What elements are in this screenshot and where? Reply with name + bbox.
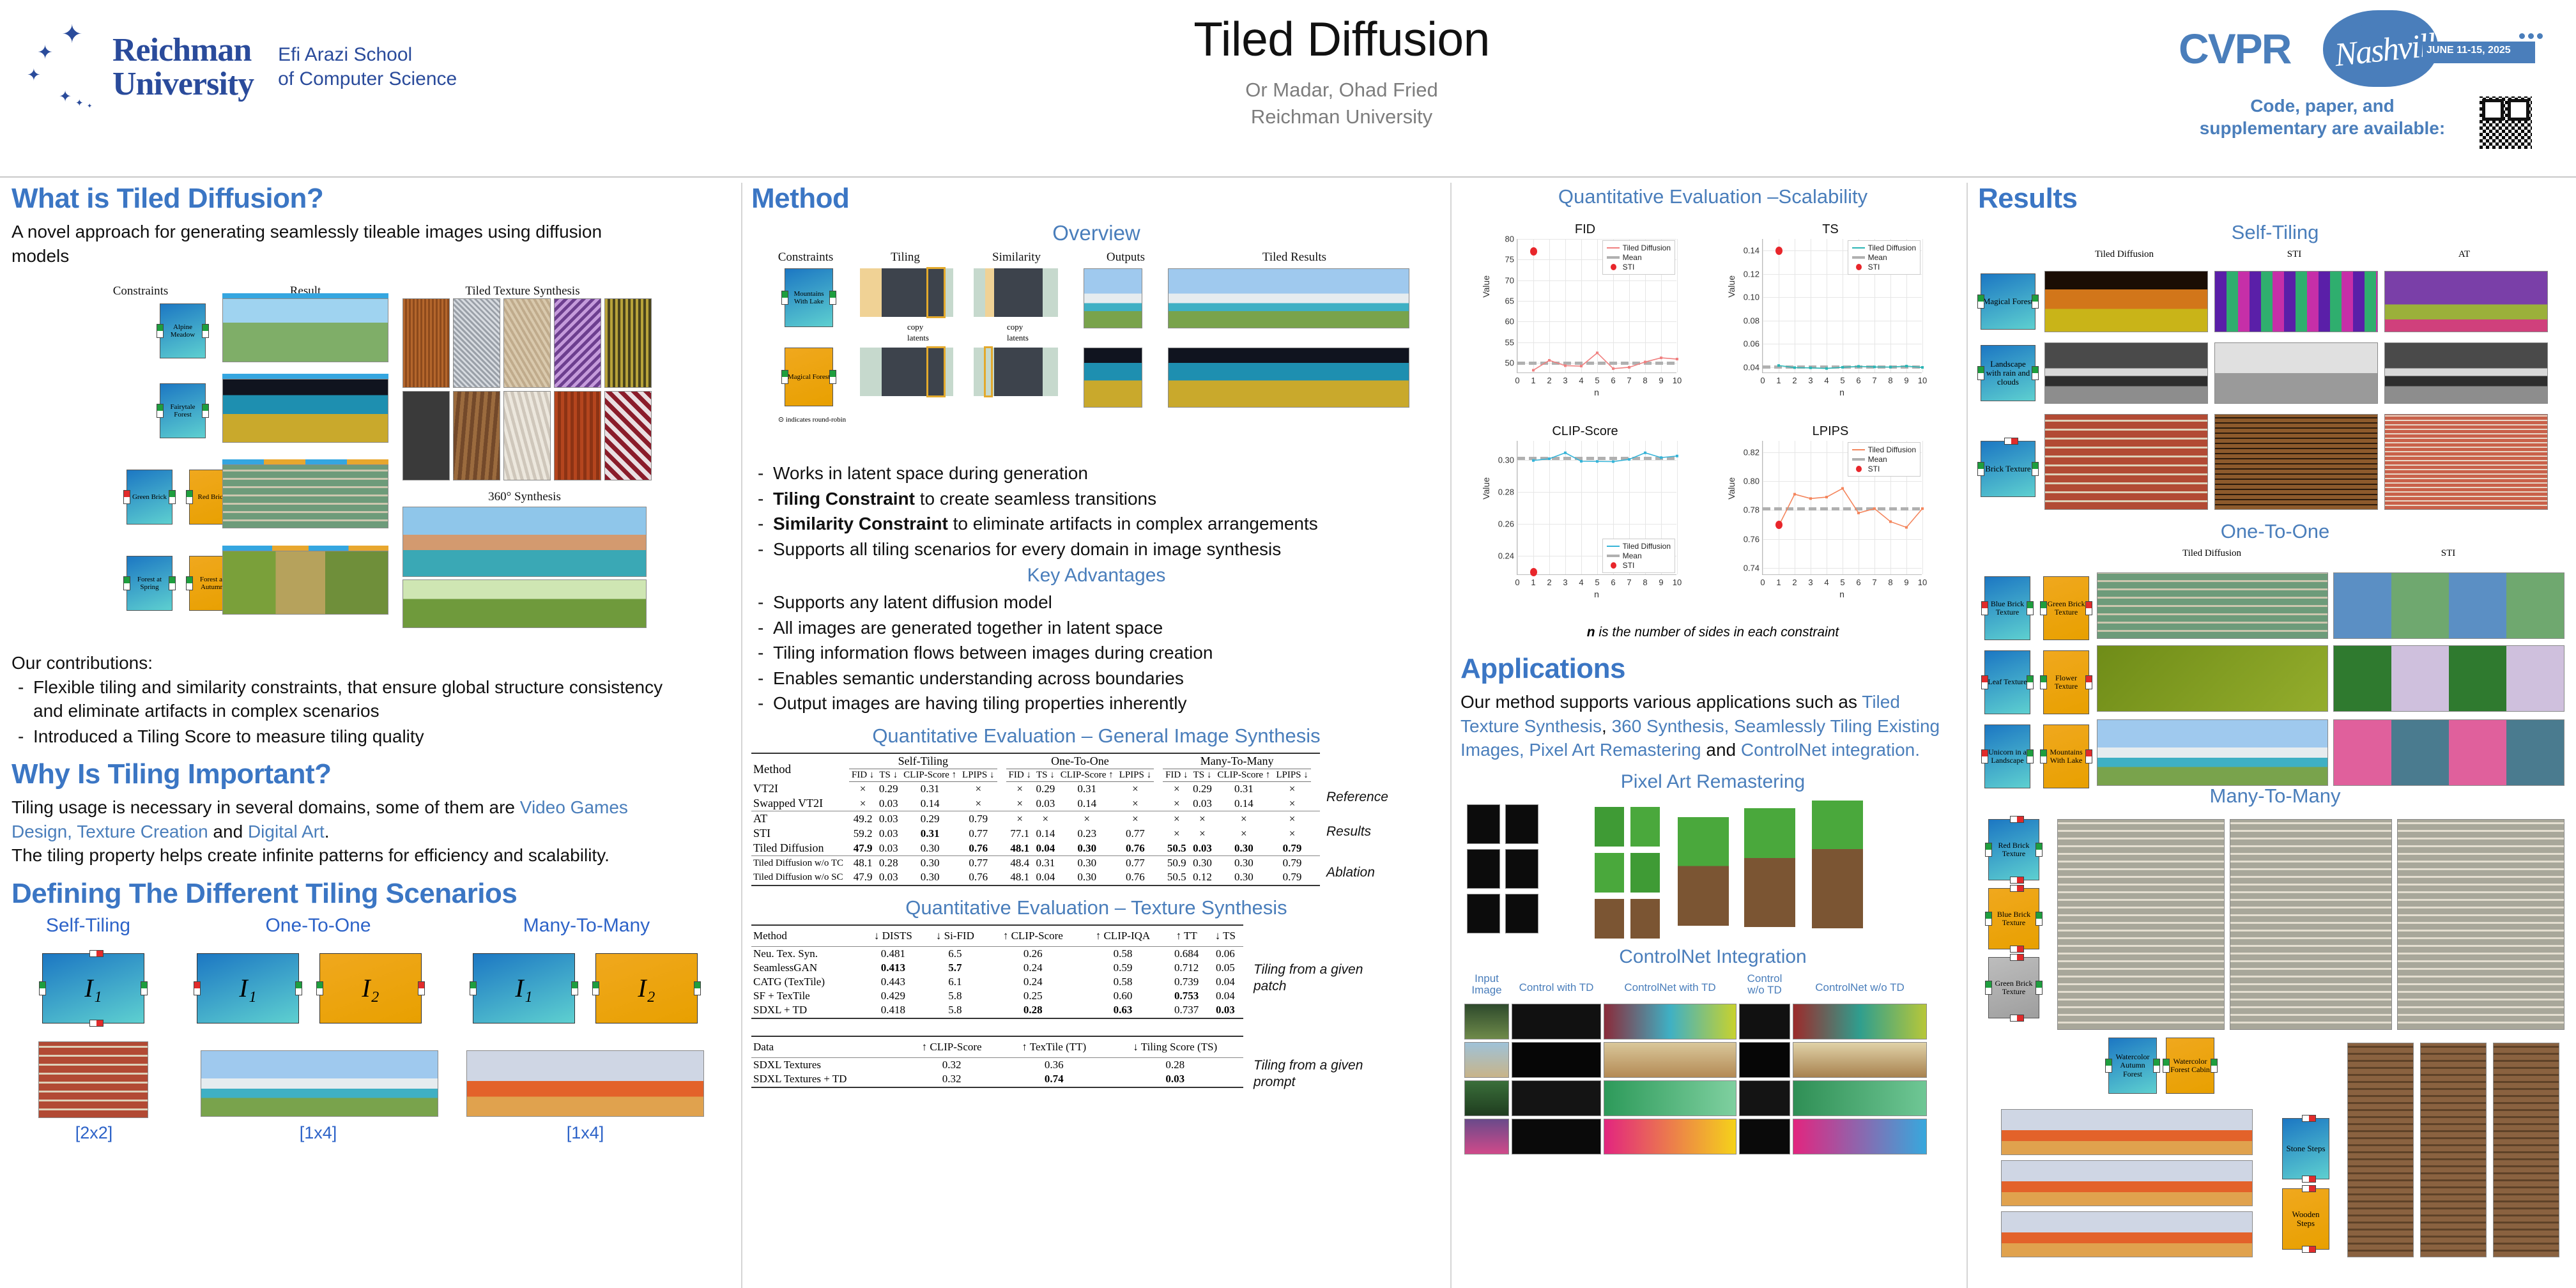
synthesis-360-image: [402, 507, 647, 577]
subheading-self-tiling: Self-Tiling: [1978, 221, 2572, 244]
caption-tiled-results: Tiled Results: [1173, 250, 1416, 264]
result-chip-pair: Unicorn in a Landscape Mountains With La…: [1984, 724, 2089, 788]
scenario-result-brick: [38, 1041, 148, 1118]
result-image: [2214, 414, 2378, 510]
result-image: [2097, 645, 2328, 712]
why-paragraph: Tiling usage is necessary in several dom…: [11, 795, 657, 843]
controlnet-grid: [1464, 1004, 1927, 1154]
result-chip-pair: Leaf Texture Flower Texture: [1984, 650, 2089, 714]
pixel-art-figure: [1460, 798, 1965, 945]
result-chip: Magical Forest: [1981, 273, 2035, 330]
chart-legend: Tiled DiffusionMeanSTI: [1602, 539, 1675, 573]
list-item: Enables semantic understanding across bo…: [751, 666, 1441, 691]
constraint-chip: Fairytale Forest: [160, 383, 206, 438]
scenario-dims: [1x4]: [466, 1123, 704, 1143]
result-image: [2384, 271, 2548, 332]
overview-figure: Constraints Tiling Similarity Outputs Ti…: [751, 250, 1441, 461]
cvpr-block: CVPR Nashville JUNE 11-15, 2025 Code, pa…: [2172, 5, 2556, 88]
chart-legend: Tiled DiffusionMeanSTI: [1848, 442, 1920, 477]
pixel-art-tree: [1678, 817, 1729, 926]
page-title: Tiled Diffusion: [958, 11, 1725, 66]
result-image: [2044, 414, 2208, 510]
tile-strip: [222, 546, 388, 551]
result-image: [222, 379, 388, 443]
x-axis-label: n: [1762, 589, 1922, 599]
cvpr-logo: CVPR Nashville JUNE 11-15, 2025: [2172, 5, 2556, 88]
poster-header: ✦✦✦ ✦✦✦ ReichmanUniversity Efi Arazi Sch…: [0, 0, 2576, 178]
result-image: [2044, 342, 2208, 404]
ctrl-col-input: Input Image: [1464, 973, 1509, 997]
mtm-chip-group-3: Stone Steps Wooden Steps: [2282, 1118, 2329, 1250]
subheading-overview: Overview: [751, 221, 1441, 245]
pixel-art-inputs: [1467, 804, 1538, 933]
result-image: [2001, 1160, 2253, 1206]
university-name: ReichmanUniversity: [112, 33, 254, 101]
result-image: [2044, 271, 2208, 332]
x-axis-label: n: [1517, 387, 1676, 397]
column-divider-2: [1450, 183, 1452, 1288]
result-image: [2333, 719, 2564, 786]
scenario-label-many-to-many: Many-To-Many: [459, 915, 714, 937]
list-item: Works in latent space during generation: [751, 461, 1441, 486]
table2-wrapper: Method↓ DISTS↓ Si-FID↑ CLIP-Score↑ CLIP-…: [751, 924, 1243, 1019]
scenario-tile-I1: I₁: [42, 953, 144, 1023]
subheading-key-advantages: Key Advantages: [751, 565, 1441, 586]
result-image: [2214, 271, 2378, 332]
ctrl-col-cnet-no-td: ControlNet w/o TD: [1793, 982, 1927, 994]
column-method: Method Overview Constraints Tiling Simil…: [751, 183, 1441, 1088]
table2-title: Quantitative Evaluation – Texture Synthe…: [751, 896, 1441, 919]
texture-grid: [402, 298, 652, 480]
constraint-chip-pair: Green Brick Red Brick: [126, 470, 235, 525]
tiling-latent-row-2: [860, 348, 953, 396]
plot-area: 0123456789100.040.060.080.100.120.14Tile…: [1762, 239, 1922, 373]
applications-paragraph: Our method supports various applications…: [1460, 690, 1946, 762]
copy-latents-label-2: copylatents: [1007, 322, 1029, 344]
tile-strip: [222, 293, 388, 298]
section-heading-method: Method: [751, 183, 1441, 215]
result-image: [222, 464, 388, 528]
caption-tiling: Tiling: [857, 250, 953, 264]
subheading-one-to-one: One-To-One: [1978, 520, 2572, 543]
chart-note: n is the number of sides in each constra…: [1460, 625, 1965, 640]
tiled-result-image: [1168, 268, 1409, 328]
scenario-dims: [2x2]: [11, 1123, 176, 1143]
intro-paragraph: A novel approach for generating seamless…: [11, 220, 650, 268]
section-heading-scenarios: Defining The Different Tiling Scenarios: [11, 878, 733, 910]
table-general-image-synthesis: MethodSelf-TilingOne-To-OneMany-To-ManyF…: [751, 753, 1320, 887]
why-paragraph-2: The tiling property helps create infinit…: [11, 843, 657, 868]
list-item: Output images are having tiling properti…: [751, 691, 1441, 716]
list-item: Similarity Constraint to eliminate artif…: [751, 512, 1441, 536]
scenario-tile-I1: I₁: [473, 953, 575, 1023]
pixel-art-tree: [1812, 801, 1863, 928]
annotation-reference: Reference: [1326, 790, 1388, 805]
guitar-tuners-icon: [2519, 33, 2543, 39]
column-divider-1: [741, 183, 742, 1288]
ctrl-col-cnet-td: ControlNet with TD: [1604, 982, 1736, 994]
similarity-latent-row: [974, 268, 1058, 317]
chart-fid: FIDValue01234567891050556065707580Tiled …: [1480, 222, 1690, 414]
result-image: [2333, 645, 2564, 712]
subheading-pixel-art: Pixel Art Remastering: [1460, 771, 1965, 793]
chart-ts: TSValue0123456789100.040.060.080.100.120…: [1725, 222, 1936, 414]
result-image: [2384, 342, 2548, 404]
scenario-label-one-to-one: One-To-One: [203, 915, 433, 937]
annotation-given-prompt: Tiling from a given prompt: [1253, 1057, 1368, 1091]
chart-legend: Tiled DiffusionMeanSTI: [1602, 240, 1675, 275]
teaser-figure: Constraints Result Tiled Texture Synthes…: [11, 284, 733, 642]
section-heading-scalability: Quantitative Evaluation –Scalability: [1460, 185, 1965, 208]
sti-point: [1530, 568, 1537, 576]
list-item: Introduced a Tiling Score to measure til…: [11, 724, 663, 749]
result-image: [2214, 342, 2378, 404]
scenario-tile-I1: I₁: [197, 953, 299, 1023]
scalability-charts: FIDValue01234567891050556065707580Tiled …: [1460, 213, 1965, 622]
copy-latents-label: copylatents: [907, 322, 929, 344]
col-header-sti: STI: [2214, 249, 2374, 260]
key-advantages-list: Supports any latent diffusion model All …: [751, 590, 1441, 716]
result-chip-pair: Blue Brick Texture Green Brick Texture: [1984, 576, 2089, 640]
overview-chip: Mountains With Lake: [785, 268, 833, 327]
contributions-list: Flexible tiling and similarity constrain…: [11, 675, 663, 749]
plot-area: 0123456789100.240.260.280.30Tiled Diffus…: [1517, 441, 1676, 575]
scenario-label-self-tiling: Self-Tiling: [11, 915, 165, 937]
pixel-art-tiles: [1595, 807, 1660, 939]
result-image: [2097, 572, 2328, 639]
chart-clip-score: CLIP-ScoreValue0123456789100.240.260.280…: [1480, 424, 1690, 616]
chart-lpips: LPIPSValue0123456789100.740.760.780.800.…: [1725, 424, 1936, 616]
constraint-chip: Alpine Meadow: [160, 303, 206, 358]
mtm-chip-group-2: Watercolor Autumn Forest Watercolor Fore…: [2108, 1038, 2214, 1094]
list-item: Supports any latent diffusion model: [751, 590, 1441, 615]
column-divider-3: [1966, 183, 1968, 1288]
scenario-dims: [1x4]: [203, 1123, 433, 1143]
tiled-result-image-2: [1168, 348, 1409, 408]
column-results: Results Self-Tiling Tiled Diffusion STI …: [1978, 183, 2572, 1262]
poster-root: ✦✦✦ ✦✦✦ ReichmanUniversity Efi Arazi Sch…: [0, 0, 2576, 1288]
resources-cta: Code, paper, and supplementary are avail…: [2172, 95, 2472, 139]
output-image: [1084, 268, 1142, 328]
result-image: [2420, 1043, 2487, 1257]
x-axis-label: n: [1762, 387, 1922, 397]
annotation-given-patch: Tiling from a given patch: [1253, 962, 1368, 995]
overview-chip: Magical Forest: [785, 348, 833, 406]
tile-strip: [222, 374, 388, 379]
school-name: Efi Arazi School of Computer Science: [278, 43, 457, 92]
column-what-is: What is Tiled Diffusion? A novel approac…: [11, 183, 733, 1151]
table1-wrapper: MethodSelf-TilingOne-To-OneMany-To-ManyF…: [751, 753, 1320, 887]
section-heading-what-is: What is Tiled Diffusion?: [11, 183, 733, 215]
result-image: [2230, 819, 2392, 1030]
method-bullets: Works in latent space during generation …: [751, 461, 1441, 561]
caption-outputs: Outputs: [1081, 250, 1170, 264]
similarity-latent-row-2: [974, 348, 1058, 396]
result-image: [2097, 719, 2328, 786]
roundrobin-note: ⊙ indicates round-robin: [777, 415, 847, 424]
self-tiling-figure: Tiled Diffusion STI AT Magical Forest La…: [1978, 249, 2572, 517]
table-given-prompt: Data↑ CLIP-Score↑ TexTile (TT)↓ Tiling S…: [751, 1036, 1243, 1088]
mtm-chip-group-1: Red Brick Texture Blue Brick Texture Gre…: [1988, 819, 2039, 1018]
list-item: All images are generated together in lat…: [751, 616, 1441, 640]
contributions-label: Our contributions:: [11, 651, 733, 675]
result-image: [2057, 819, 2225, 1030]
col-header-sti: STI: [2333, 548, 2563, 559]
column-quantitative: Quantitative Evaluation –Scalability FID…: [1460, 183, 1965, 1114]
scenario-tile-I2: I₂: [319, 953, 422, 1023]
result-image: [2001, 1109, 2253, 1155]
section-heading-why-tiling: Why Is Tiling Important?: [11, 758, 733, 790]
cvpr-date: JUNE 11-15, 2025: [2426, 45, 2511, 56]
scenario-result-unicorn: [201, 1050, 438, 1117]
result-chip: Brick Texture: [1981, 441, 2035, 497]
scenarios-figure: Self-Tiling One-To-One Many-To-Many I₁ I…: [11, 915, 733, 1151]
result-image: [2347, 1043, 2414, 1257]
chart-legend: Tiled DiffusionMeanSTI: [1848, 240, 1920, 275]
caption-constraints: Constraints: [96, 284, 185, 298]
table1-title: Quantitative Evaluation – General Image …: [751, 724, 1441, 747]
y-axis-label: Value: [1726, 477, 1736, 500]
y-axis-label: Value: [1481, 275, 1491, 298]
many-to-many-figure-2: Stone Steps Wooden Steps: [1978, 1109, 2572, 1262]
caption-constraints: Constraints: [758, 250, 854, 264]
result-image: [2493, 1043, 2559, 1257]
tile-strip: [222, 459, 388, 464]
university-logo: ✦✦✦ ✦✦✦ ReichmanUniversity Efi Arazi Sch…: [26, 19, 457, 115]
list-item: Supports all tiling scenarios for every …: [751, 537, 1441, 562]
scenario-tile-I2: I₂: [595, 953, 698, 1023]
title-block: Tiled Diffusion Or Madar, Ohad Fried Rei…: [958, 11, 1725, 130]
caption-360-synthesis: 360° Synthesis: [402, 490, 647, 504]
constraint-chip-pair: Forest at Spring Forest at Autumn: [126, 556, 235, 611]
list-item: Tiling Constraint to create seamless tra…: [751, 487, 1441, 511]
section-heading-applications: Applications: [1460, 653, 1965, 685]
x-axis-label: n: [1517, 589, 1676, 599]
ctrl-col-ctrl-td: Control with TD: [1512, 982, 1601, 994]
y-axis-label: Value: [1481, 477, 1491, 500]
pixel-art-tree: [1744, 808, 1795, 927]
list-item: Tiling information flows between images …: [751, 641, 1441, 665]
col-header-at: AT: [2384, 249, 2544, 260]
output-image-2: [1084, 348, 1142, 408]
tiling-latent-row: [860, 268, 953, 317]
result-image: [222, 298, 388, 362]
table3-wrapper: Data↑ CLIP-Score↑ TexTile (TT)↓ Tiling S…: [751, 1036, 1243, 1088]
annotation-ablation: Ablation: [1326, 865, 1375, 880]
table-texture-synthesis: Method↓ DISTS↓ Si-FID↑ CLIP-Score↑ CLIP-…: [751, 924, 1243, 1019]
plot-area: 01234567891050556065707580Tiled Diffusio…: [1517, 239, 1676, 373]
chart-title: TS: [1725, 222, 1936, 237]
caption-similarity: Similarity: [969, 250, 1064, 264]
section-heading-results: Results: [1978, 183, 2572, 215]
col-header-tiled-diffusion: Tiled Diffusion: [2044, 249, 2204, 260]
result-image: [2384, 414, 2548, 510]
result-image: [222, 551, 388, 615]
result-image: [2001, 1211, 2253, 1257]
scenario-result-autumn: [466, 1050, 704, 1117]
authors: Or Madar, Ohad Fried Reichman University: [958, 77, 1725, 130]
controlnet-figure: Input Image Control with TD ControlNet w…: [1460, 973, 1965, 1114]
cvpr-wordmark: CVPR: [2179, 24, 2290, 73]
col-header-tiled-diffusion: Tiled Diffusion: [2097, 548, 2327, 559]
annotation-results: Results: [1326, 824, 1371, 839]
ctrl-col-ctrl-no-td: Control w/o TD: [1739, 973, 1790, 997]
result-image: [2397, 819, 2564, 1030]
one-to-one-figure: Tiled Diffusion STI Blue Brick Texture G…: [1978, 548, 2572, 783]
subheading-controlnet: ControlNet Integration: [1460, 946, 1965, 968]
chart-title: CLIP-Score: [1480, 424, 1690, 439]
caption-texture-synth: Tiled Texture Synthesis: [401, 284, 644, 298]
y-axis-label: Value: [1726, 275, 1736, 298]
result-chip: Landscape with rain and clouds: [1981, 345, 2035, 401]
header-divider: [0, 176, 2576, 178]
sti-point: [1775, 521, 1782, 529]
list-item: Flexible tiling and similarity constrain…: [11, 675, 663, 723]
plot-area: 0123456789100.740.760.780.800.82Tiled Di…: [1762, 441, 1922, 575]
stars-icon: ✦✦✦ ✦✦✦: [26, 19, 96, 115]
qr-code-icon[interactable]: [2478, 95, 2534, 151]
synthesis-360-image-2: [402, 579, 647, 628]
result-image: [2333, 572, 2564, 639]
chart-title: LPIPS: [1725, 424, 1936, 439]
